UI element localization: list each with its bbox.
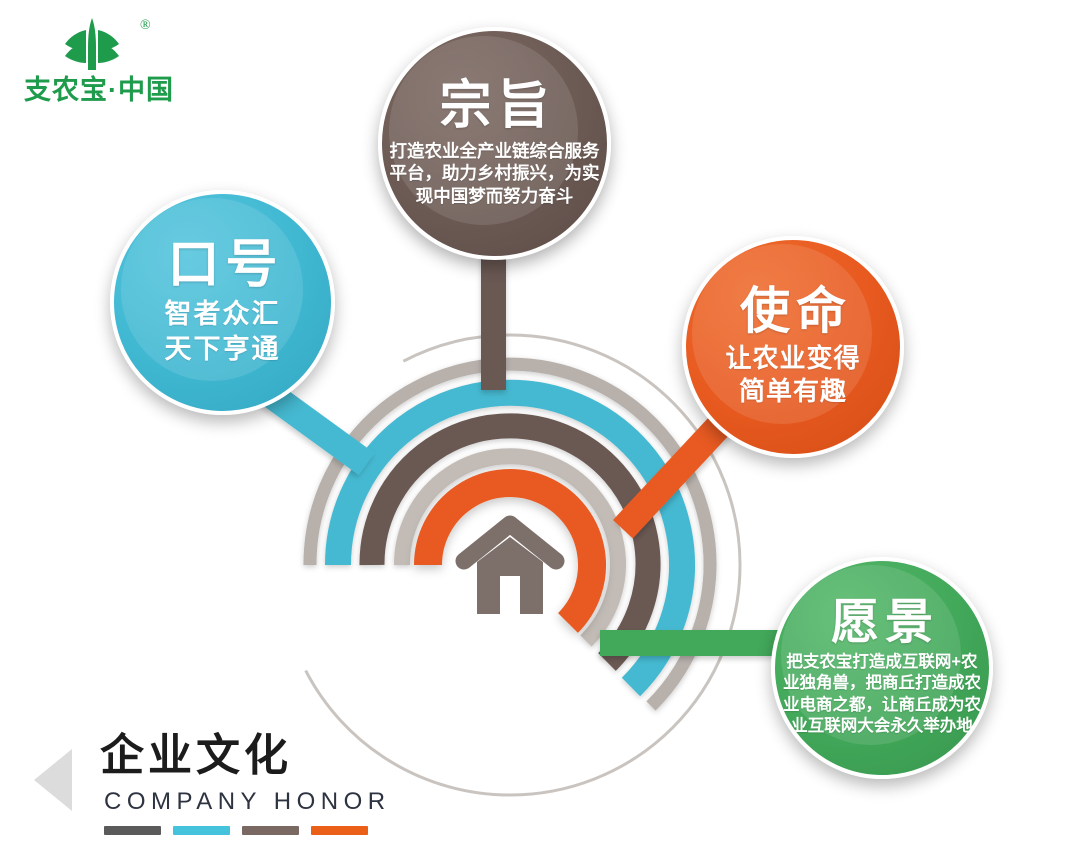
footer-title-cn: 企业文化 <box>100 731 292 780</box>
footer-swatch-4 <box>311 826 368 835</box>
brand-logo: ® 支农宝·中国 <box>24 14 224 114</box>
bubble-slogan-body: 智者众汇天下亨通 <box>159 297 287 366</box>
footer-title-block: 企业文化 COMPANY HONOR <box>34 731 374 841</box>
bubble-slogan-title: 口号 <box>161 239 283 291</box>
footer-swatch-1 <box>104 826 161 835</box>
bubble-mission-title: 使命 <box>734 286 852 336</box>
bubble-vision-body: 把支农宝打造成互联网+农业独角兽，把商丘打造成农业电商之都，让商丘成为农业互联网… <box>775 652 989 736</box>
footer-swatch-row <box>104 826 368 835</box>
registered-mark-icon: ® <box>140 18 151 34</box>
footer-swatch-3 <box>242 826 299 835</box>
left-triangle-icon <box>34 749 72 811</box>
footer-title-en: COMPANY HONOR <box>104 788 391 816</box>
bubble-vision[interactable]: 愿景 把支农宝打造成互联网+农业独角兽，把商丘打造成农业电商之都，让商丘成为农业… <box>771 557 993 779</box>
footer-swatch-2 <box>173 826 230 835</box>
bubble-purpose-body: 打造农业全产业链综合服务平台，助力乡村振兴，为实现中国梦而努力奋斗 <box>382 140 607 207</box>
bubble-mission-body: 让农业变得简单有趣 <box>719 342 866 409</box>
bubble-slogan[interactable]: 口号 智者众汇天下亨通 <box>110 190 335 415</box>
brand-name: 支农宝·中国 <box>24 76 194 106</box>
bubble-mission[interactable]: 使命 让农业变得简单有趣 <box>682 236 904 458</box>
bubble-vision-title: 愿景 <box>825 599 939 647</box>
wheat-leaf-logo-icon <box>46 14 142 76</box>
bubble-purpose[interactable]: 宗旨 打造农业全产业链综合服务平台，助力乡村振兴，为实现中国梦而努力奋斗 <box>378 27 611 260</box>
bubble-purpose-title: 宗旨 <box>433 80 555 132</box>
home-icon <box>464 524 556 614</box>
infographic-canvas: ® 支农宝·中国 <box>0 0 1080 846</box>
